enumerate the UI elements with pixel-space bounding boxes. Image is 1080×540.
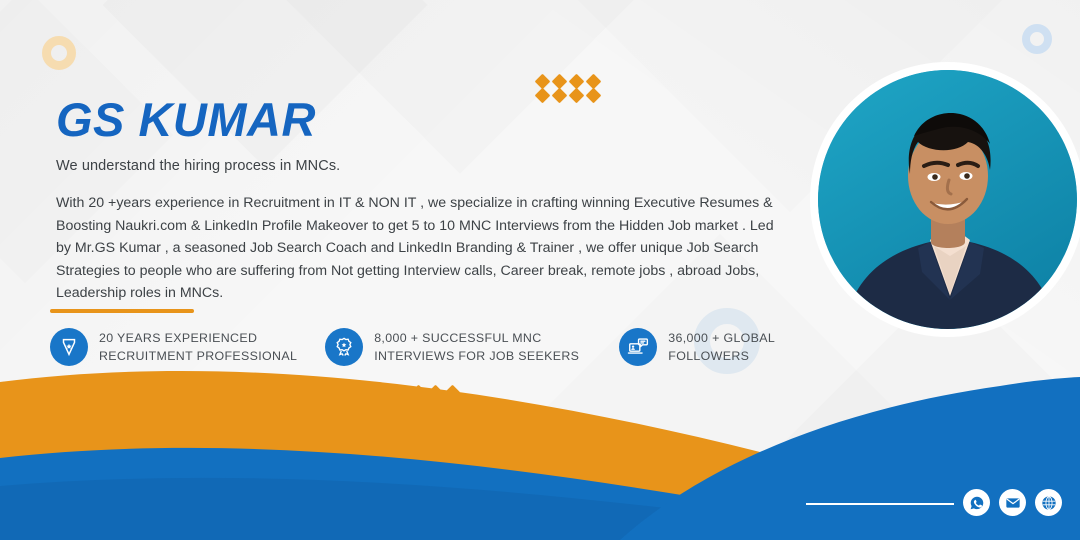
diamond-cluster-top	[537, 76, 601, 101]
decorative-ring-top-left	[42, 36, 76, 70]
social-links	[963, 489, 1062, 516]
website-globe-icon[interactable]	[1035, 489, 1062, 516]
orange-divider	[50, 309, 194, 313]
footer-divider-line	[806, 503, 954, 505]
whatsapp-icon[interactable]	[963, 489, 990, 516]
promo-banner: GS KUMAR We understand the hiring proces…	[0, 0, 1080, 540]
description-paragraph: With 20 +years experience in Recruitment…	[56, 192, 786, 305]
decorative-ring-top-right	[1022, 24, 1052, 54]
tagline: We understand the hiring process in MNCs…	[56, 158, 340, 174]
page-title: GS KUMAR	[56, 92, 316, 147]
email-icon[interactable]	[999, 489, 1026, 516]
portrait-illustration	[818, 70, 1077, 329]
decorative-waves	[0, 340, 1080, 540]
avatar	[818, 70, 1077, 329]
